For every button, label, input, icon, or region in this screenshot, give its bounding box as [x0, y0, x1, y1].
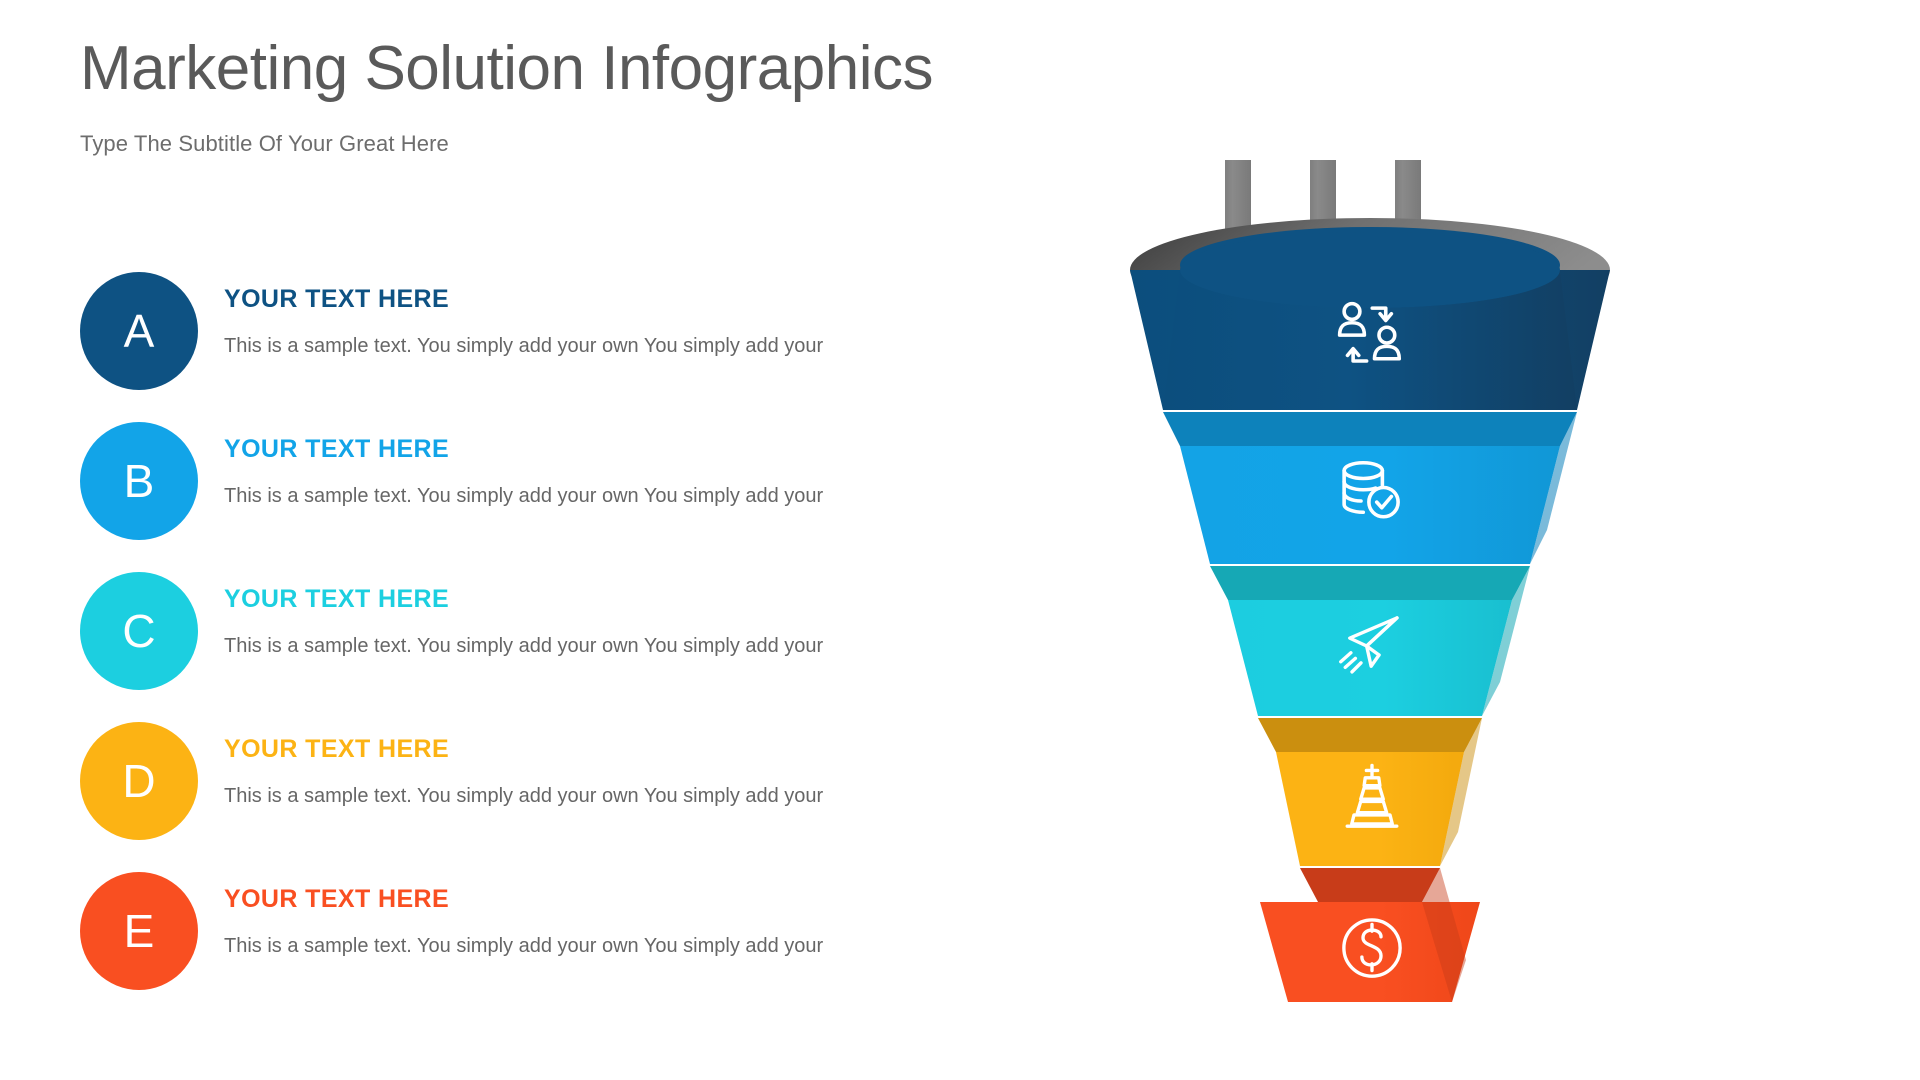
- funnel-layer-a[interactable]: [1130, 232, 1610, 410]
- funnel-svg: [1130, 160, 1870, 1020]
- list-item-badge-c: C: [80, 572, 198, 690]
- page-title: Marketing Solution Infographics: [80, 34, 1180, 103]
- list-item-body: This is a sample text. You simply add yo…: [224, 914, 904, 960]
- page-subtitle: Type The Subtitle Of Your Great Here: [80, 103, 1180, 157]
- list-item-body: This is a sample text. You simply add yo…: [224, 314, 904, 360]
- slide-canvas: Marketing Solution Infographics Type The…: [0, 0, 1920, 1080]
- list-item-text: YOUR TEXT HERE This is a sample text. Yo…: [224, 884, 904, 960]
- list-item-body: This is a sample text. You simply add yo…: [224, 764, 904, 810]
- funnel-layer-e[interactable]: [1260, 868, 1480, 1002]
- list-item-badge-d: D: [80, 722, 198, 840]
- list-item-heading: YOUR TEXT HERE: [224, 434, 904, 464]
- list-item-badge-b: B: [80, 422, 198, 540]
- badge-letter: E: [124, 908, 155, 954]
- feature-list: A YOUR TEXT HERE This is a sample text. …: [80, 272, 910, 1022]
- list-item-heading: YOUR TEXT HERE: [224, 734, 904, 764]
- badge-letter: B: [124, 458, 155, 504]
- funnel-layer-d[interactable]: [1258, 718, 1482, 866]
- header: Marketing Solution Infographics Type The…: [80, 34, 1180, 157]
- list-item[interactable]: A YOUR TEXT HERE This is a sample text. …: [80, 272, 910, 422]
- list-item-badge-a: A: [80, 272, 198, 390]
- list-item-text: YOUR TEXT HERE This is a sample text. Yo…: [224, 284, 904, 360]
- list-item-heading: YOUR TEXT HERE: [224, 284, 904, 314]
- badge-letter: D: [122, 758, 155, 804]
- badge-letter: C: [122, 608, 155, 654]
- funnel-layer-c[interactable]: [1210, 566, 1530, 716]
- list-item[interactable]: C YOUR TEXT HERE This is a sample text. …: [80, 572, 910, 722]
- list-item-text: YOUR TEXT HERE This is a sample text. Yo…: [224, 734, 904, 810]
- list-item[interactable]: E YOUR TEXT HERE This is a sample text. …: [80, 872, 910, 1022]
- list-item-text: YOUR TEXT HERE This is a sample text. Yo…: [224, 584, 904, 660]
- list-item-badge-e: E: [80, 872, 198, 990]
- funnel-chart: [1130, 160, 1870, 1020]
- badge-letter: A: [124, 308, 155, 354]
- list-item-body: This is a sample text. You simply add yo…: [224, 464, 904, 510]
- list-item[interactable]: D YOUR TEXT HERE This is a sample text. …: [80, 722, 910, 872]
- list-item[interactable]: B YOUR TEXT HERE This is a sample text. …: [80, 422, 910, 572]
- list-item-body: This is a sample text. You simply add yo…: [224, 614, 904, 660]
- list-item-heading: YOUR TEXT HERE: [224, 884, 904, 914]
- funnel-layer-b[interactable]: [1163, 412, 1577, 564]
- list-item-text: YOUR TEXT HERE This is a sample text. Yo…: [224, 434, 904, 510]
- list-item-heading: YOUR TEXT HERE: [224, 584, 904, 614]
